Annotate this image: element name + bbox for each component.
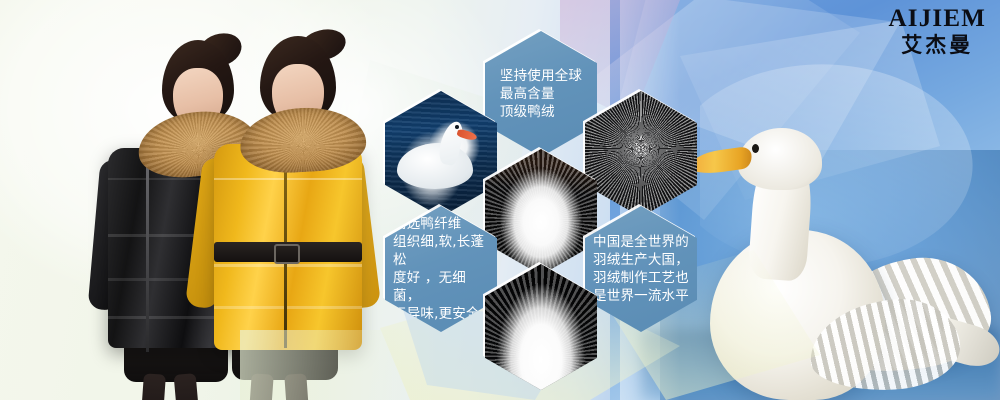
jacket-seam-1 xyxy=(214,178,362,180)
leg-left xyxy=(140,373,166,400)
hex-left-line-2: 组织细,软,长蓬松 xyxy=(393,233,489,269)
zipper xyxy=(146,152,149,352)
white-duck xyxy=(690,110,990,400)
brand-logo: AIJIEM 艾杰曼 xyxy=(889,6,986,57)
hex-right-line-4: 是世界一流水平 xyxy=(593,287,689,305)
hex-right-line-2: 羽绒生产大国， xyxy=(593,251,689,269)
hex-top-line-3: 顶级鸭绒 xyxy=(500,103,582,121)
hex-top-text-content: 坚持使用全球 最高含量 顶级鸭绒 xyxy=(486,67,596,121)
jacket-seam-3 xyxy=(214,306,362,309)
promo-banner: 坚持使用全球 最高含量 顶级鸭绒 精选鸭纤维 组织细,软,长蓬松 xyxy=(0,0,1000,400)
belt-buckle xyxy=(274,244,300,264)
swan-body xyxy=(397,143,473,189)
brand-logo-latin: AIJIEM xyxy=(889,6,986,32)
hex-top-line-2: 最高含量 xyxy=(500,85,582,103)
brand-logo-chinese: 艾杰曼 xyxy=(889,33,986,57)
leg-right xyxy=(284,373,309,400)
leg-left xyxy=(248,373,273,400)
jacket-seam-2 xyxy=(214,264,362,267)
hex-top-line-1: 坚持使用全球 xyxy=(500,67,582,85)
hex-right-line-3: 羽绒制作工艺也 xyxy=(593,269,689,287)
swan-eye xyxy=(455,125,459,129)
duck-eye xyxy=(752,144,759,153)
hex-right-line-1: 中国是全世界的 xyxy=(593,233,689,251)
hex-right-text-content: 中国是全世界的 羽绒生产大国， 羽绒制作工艺也 是世界一流水平 xyxy=(585,233,697,305)
model-yellow-jacket xyxy=(188,24,388,400)
hex-left-line-3: 度好 ，无细菌， xyxy=(393,269,489,305)
hex-left-text-content: 精选鸭纤维 组织细,软,长蓬松 度好 ，无细菌， 无异味,更安全 xyxy=(385,215,497,323)
